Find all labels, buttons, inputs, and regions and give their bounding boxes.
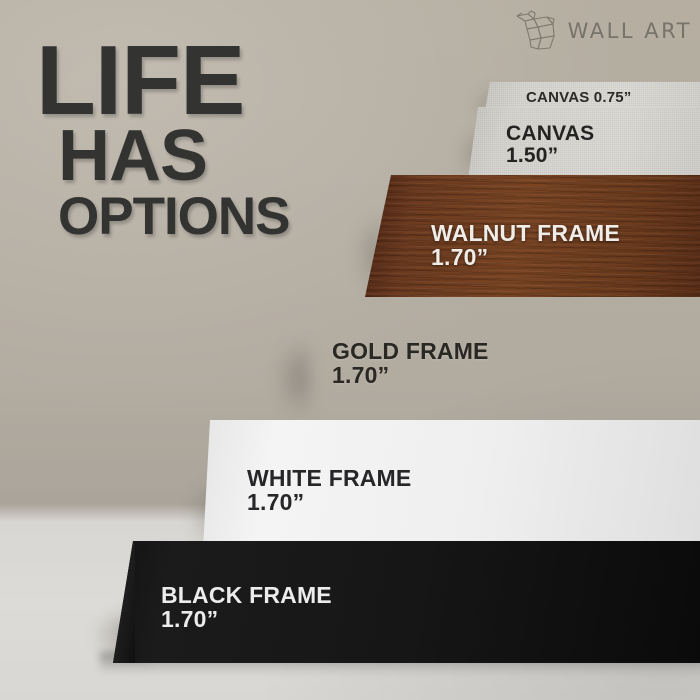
gold-frame-label-line-1: GOLD FRAME [332,339,489,363]
gold-frame-label: GOLD FRAME 1.70” [332,339,489,387]
product-options-graphic: WALL ART LIFE HAS OPTIONS CANVAS 0.75” C… [0,0,700,700]
headline-line-2: HAS [58,126,290,188]
white-frame-label-line-2: 1.70” [247,490,411,514]
product-slab-walnut-frame[interactable]: WALNUT FRAME 1.70” [365,175,700,297]
product-slab-white-frame[interactable]: WHITE FRAME 1.70” [203,420,700,548]
black-frame-bevel [113,541,135,663]
canvas-150-label-line-1: CANVAS [506,123,594,145]
headline: LIFE HAS OPTIONS [36,38,290,240]
origami-goat-icon [514,10,560,52]
black-frame-label-line-2: 1.70” [161,607,332,631]
product-slab-canvas-150[interactable]: CANVAS 1.50” [468,107,700,179]
gold-frame-label-line-2: 1.70” [332,363,489,387]
walnut-frame-label-line-1: WALNUT FRAME [431,221,620,245]
white-frame-label: WHITE FRAME 1.70” [247,466,411,514]
brand-logo: WALL ART [514,10,692,52]
canvas-075-label-line-1: CANVAS 0.75” [526,90,632,106]
brand-name: WALL ART [568,19,692,43]
product-slab-gold-frame[interactable]: GOLD FRAME 1.70” [288,293,700,418]
black-frame-label: BLACK FRAME 1.70” [161,583,332,631]
product-slab-black-frame[interactable]: BLACK FRAME 1.70” [113,541,700,663]
canvas-150-label: CANVAS 1.50” [506,123,594,167]
headline-line-3: OPTIONS [58,194,290,240]
white-frame-label-line-1: WHITE FRAME [247,466,411,490]
headline-line-1: LIFE [36,38,290,122]
canvas-150-label-line-2: 1.50” [506,145,594,167]
black-frame-label-line-1: BLACK FRAME [161,583,332,607]
canvas-075-label: CANVAS 0.75” [526,90,632,106]
walnut-frame-label-line-2: 1.70” [431,245,620,269]
walnut-frame-label: WALNUT FRAME 1.70” [431,221,620,269]
